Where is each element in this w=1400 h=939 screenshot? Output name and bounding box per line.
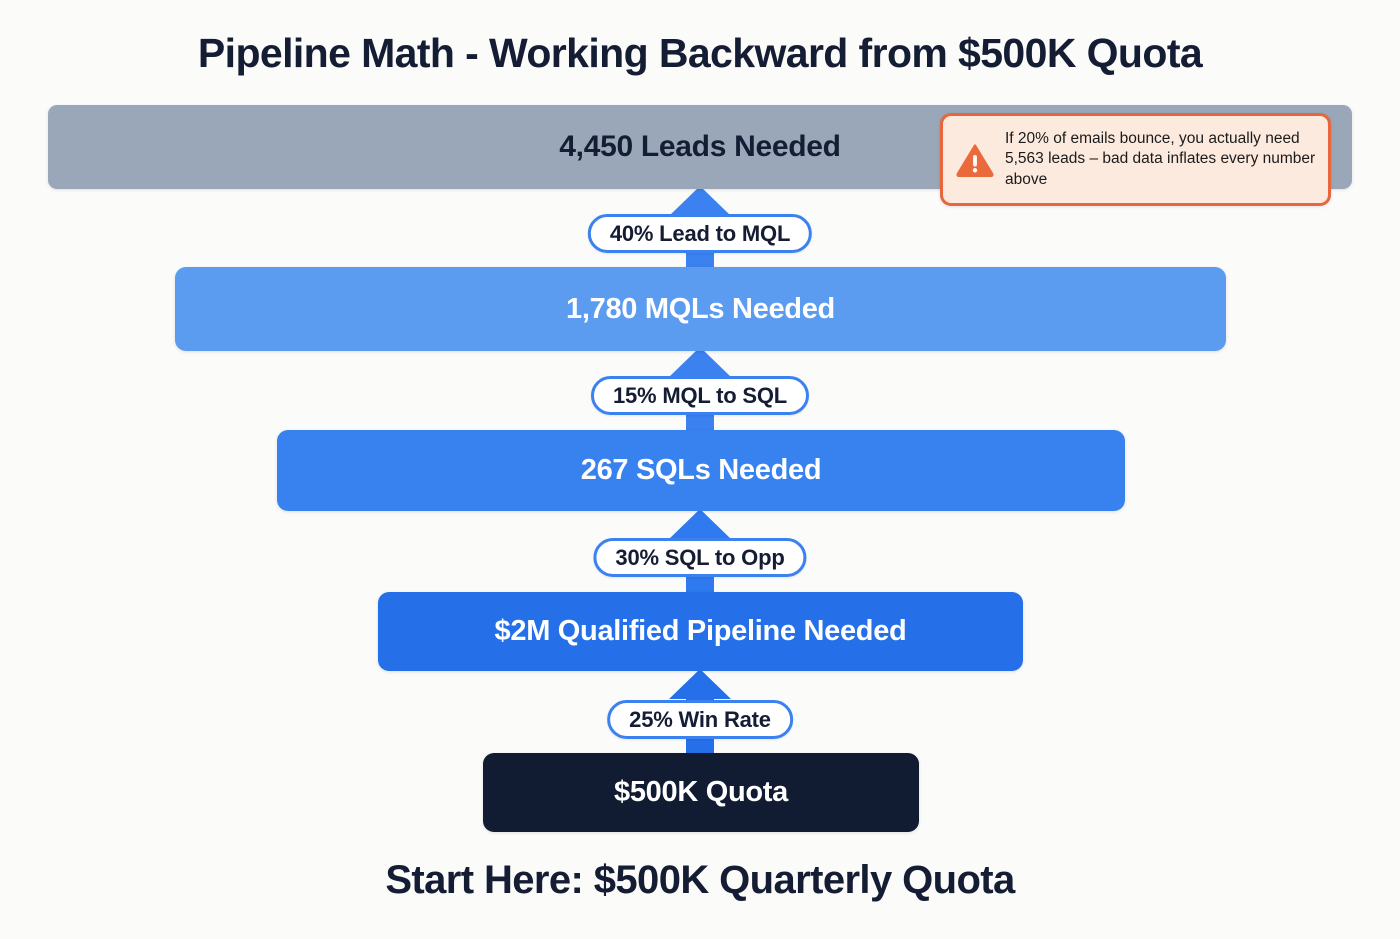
funnel-diagram-canvas: Pipeline Math - Working Backward from $5… — [0, 0, 1400, 939]
funnel-stage-leads-label: 4,450 Leads Needed — [559, 130, 840, 164]
funnel-stage-quota[interactable]: $500K Quota — [483, 753, 919, 832]
funnel-stage-mqls[interactable]: 1,780 MQLs Needed — [175, 267, 1226, 351]
warning-callout-text: If 20% of emails bounce, you actually ne… — [1005, 129, 1316, 190]
page-title: Pipeline Math - Working Backward from $5… — [0, 30, 1400, 77]
funnel-stage-pipeline-label: $2M Qualified Pipeline Needed — [495, 615, 907, 648]
conversion-pill-win-rate-label: 25% Win Rate — [629, 707, 771, 733]
conversion-pill-sql-to-opp[interactable]: 30% SQL to Opp — [593, 538, 806, 577]
conversion-pill-mql-to-sql[interactable]: 15% MQL to SQL — [591, 376, 809, 415]
funnel-stage-sqls[interactable]: 267 SQLs Needed — [277, 430, 1125, 511]
funnel-stage-mqls-label: 1,780 MQLs Needed — [566, 293, 835, 326]
conversion-pill-lead-to-mql[interactable]: 40% Lead to MQL — [588, 214, 812, 253]
conversion-pill-sql-to-opp-label: 30% SQL to Opp — [615, 545, 784, 571]
funnel-stage-sqls-label: 267 SQLs Needed — [581, 454, 822, 487]
warning-callout[interactable]: If 20% of emails bounce, you actually ne… — [940, 113, 1331, 206]
conversion-pill-win-rate[interactable]: 25% Win Rate — [607, 700, 793, 739]
funnel-stage-quota-label: $500K Quota — [614, 776, 788, 809]
funnel-stage-pipeline[interactable]: $2M Qualified Pipeline Needed — [378, 592, 1023, 671]
conversion-pill-lead-to-mql-label: 40% Lead to MQL — [610, 221, 790, 247]
warning-triangle-icon — [956, 143, 994, 177]
footer-caption: Start Here: $500K Quarterly Quota — [0, 858, 1400, 903]
conversion-pill-mql-to-sql-label: 15% MQL to SQL — [613, 383, 787, 409]
